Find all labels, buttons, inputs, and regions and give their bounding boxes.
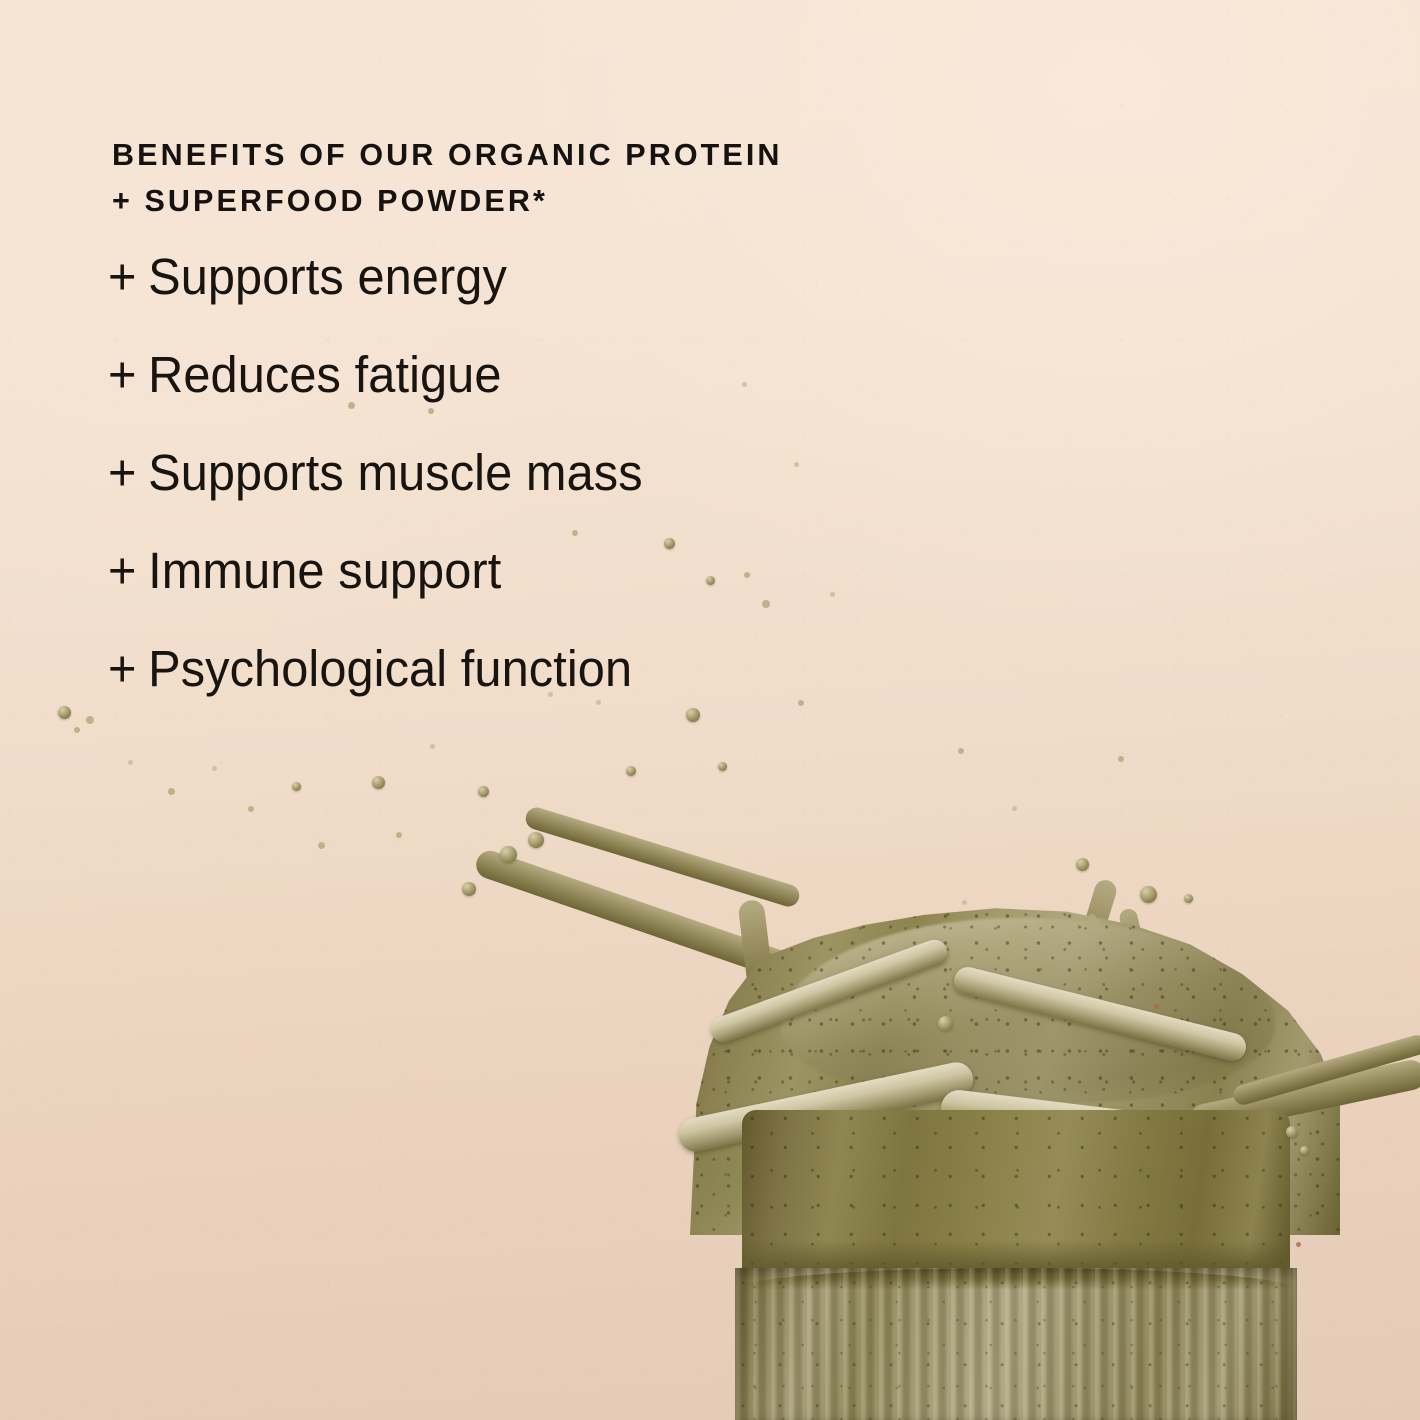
splash-droplet xyxy=(500,846,517,863)
benefit-item: +Supports muscle mass xyxy=(108,424,968,522)
red-speck xyxy=(1154,1004,1159,1009)
splash-droplet xyxy=(1092,918,1099,925)
red-speck xyxy=(1296,1242,1301,1247)
benefit-item: +Supports energy xyxy=(108,228,968,326)
splash-droplet xyxy=(1140,886,1157,903)
splash-droplet xyxy=(958,748,964,754)
plus-icon: + xyxy=(108,228,148,326)
plus-icon: + xyxy=(108,326,148,424)
ribbed-drinking-glass xyxy=(735,1268,1297,1420)
benefit-item: +Immune support xyxy=(108,522,968,620)
plus-icon: + xyxy=(108,620,148,718)
glass-speckles xyxy=(735,1268,1297,1420)
splash-droplet xyxy=(212,766,217,771)
benefit-item: +Psychological function xyxy=(108,620,968,718)
benefit-item: +Reduces fatigue xyxy=(108,326,968,424)
benefit-label: Psychological function xyxy=(148,640,632,697)
splash-droplet xyxy=(718,762,727,771)
splash-arm-upper-left xyxy=(12,0,188,73)
splash-droplet xyxy=(74,727,80,733)
splash-droplet xyxy=(1184,894,1193,903)
benefit-label: Supports energy xyxy=(148,248,507,305)
plus-icon: + xyxy=(108,424,148,522)
splash-droplet xyxy=(168,788,175,795)
splash-droplet xyxy=(478,786,489,797)
splash-droplet xyxy=(1012,806,1017,811)
product-benefits-graphic: BENEFITS OF OUR ORGANIC PROTEIN + SUPERF… xyxy=(0,0,1420,1420)
splash-droplet xyxy=(938,1016,953,1031)
splash-droplet xyxy=(318,842,325,849)
splash-droplet xyxy=(86,716,94,724)
splash-droplet xyxy=(1076,858,1089,871)
splash-droplet xyxy=(962,900,967,905)
splash-droplet xyxy=(372,776,385,789)
page-title: BENEFITS OF OUR ORGANIC PROTEIN + SUPERF… xyxy=(112,132,1092,224)
splash-droplet xyxy=(128,760,133,765)
splash-droplet xyxy=(462,882,476,896)
liquid-column xyxy=(742,1110,1290,1286)
benefit-label: Reduces fatigue xyxy=(148,346,501,403)
splash-droplet xyxy=(528,832,544,848)
benefits-list: +Supports energy+Reduces fatigue+Support… xyxy=(108,228,1008,718)
splash-droplet xyxy=(1118,756,1124,762)
splash-droplet xyxy=(396,832,402,838)
splash-droplet xyxy=(1286,1126,1298,1138)
plus-icon: + xyxy=(108,522,148,620)
splash-droplet xyxy=(292,782,301,791)
benefit-label: Immune support xyxy=(148,542,501,599)
splash-droplet xyxy=(626,766,636,776)
splash-droplet xyxy=(58,706,71,719)
benefit-label: Supports muscle mass xyxy=(148,444,643,501)
splash-droplet xyxy=(248,806,254,812)
splash-droplet xyxy=(430,744,435,749)
splash-droplet xyxy=(1300,1146,1309,1155)
